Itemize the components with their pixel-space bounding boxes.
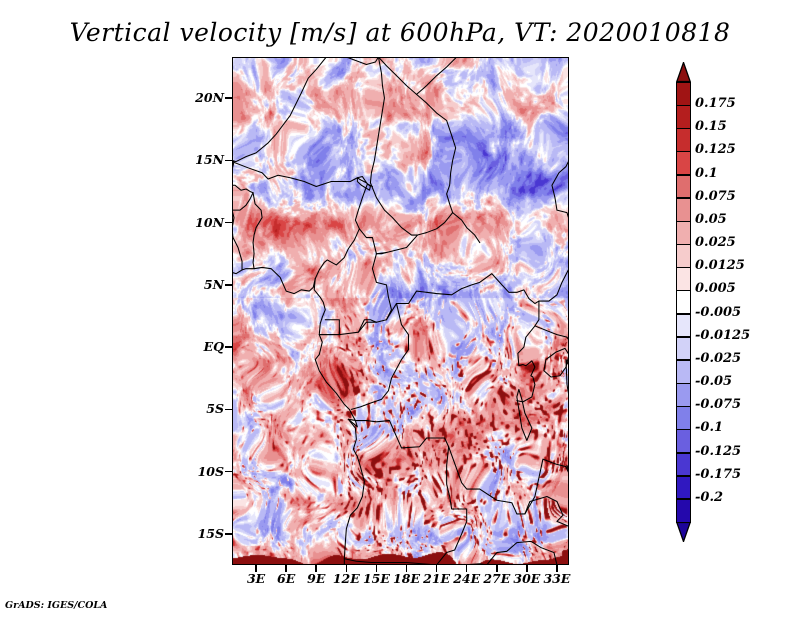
colorbar-band — [676, 151, 691, 175]
colorbar-over-arrow — [676, 62, 691, 82]
colorbar-band — [676, 198, 691, 222]
border-path — [319, 274, 539, 335]
y-axis-label: 5N — [170, 277, 224, 292]
border-path — [544, 348, 569, 377]
y-axis-tick — [225, 346, 232, 348]
border-path — [567, 465, 569, 526]
border-path — [348, 419, 563, 515]
grads-credit: GrADS: IGES/COLA — [5, 600, 107, 611]
colorbar-band — [676, 290, 691, 314]
colorbar-label: 0.005 — [695, 281, 736, 296]
x-axis-tick — [255, 565, 257, 572]
border-path — [351, 304, 408, 410]
colorbar-band — [676, 383, 691, 407]
x-axis-tick — [496, 565, 498, 572]
border-path — [525, 459, 569, 514]
y-axis-label: 10N — [170, 215, 224, 230]
y-axis-label: 20N — [170, 90, 224, 105]
x-axis-tick — [526, 565, 528, 572]
y-axis-label: EQ — [170, 339, 224, 354]
colorbar-label: -0.2 — [695, 490, 723, 505]
border-path — [232, 57, 326, 162]
colorbar-band — [676, 453, 691, 477]
colorbar-band — [676, 221, 691, 245]
colorbar-label: 0.1 — [695, 166, 718, 181]
y-axis-tick — [225, 533, 232, 535]
border-path — [232, 162, 372, 187]
border-path — [417, 57, 457, 94]
border-path — [358, 320, 376, 332]
x-axis-tick — [285, 565, 287, 572]
border-path — [370, 57, 384, 183]
y-axis-label: 10S — [170, 464, 224, 479]
border-path — [232, 193, 253, 210]
colorbar-label: -0.025 — [695, 351, 741, 366]
border-path — [539, 210, 569, 301]
x-axis-tick — [315, 565, 317, 572]
colorbar-band — [676, 337, 691, 361]
x-axis-tick — [376, 565, 378, 572]
colorbar-label: 0.0125 — [695, 258, 745, 273]
border-path — [325, 320, 339, 335]
colorbar-band — [676, 476, 691, 500]
x-axis-tick — [346, 565, 348, 572]
border-path — [344, 419, 364, 565]
colorbar-band — [676, 128, 691, 152]
colorbar-under-arrow — [676, 522, 691, 542]
colorbar-label: 0.175 — [695, 96, 736, 111]
map-panel — [232, 57, 569, 565]
border-path — [314, 279, 357, 427]
border-path — [462, 541, 557, 565]
colorbar-band — [676, 429, 691, 453]
colorbar-band — [676, 82, 691, 106]
colorbar-band — [676, 105, 691, 129]
y-axis-tick — [225, 160, 232, 162]
country-borders-overlay — [232, 57, 569, 565]
border-path — [378, 57, 479, 243]
x-axis-tick — [466, 565, 468, 572]
border-path — [344, 559, 436, 565]
colorbar-band — [676, 360, 691, 384]
x-axis-tick — [556, 565, 558, 572]
colorbar-band — [676, 499, 691, 523]
y-axis-tick — [225, 222, 232, 224]
colorbar-label: 0.125 — [695, 142, 736, 157]
colorbar-band — [676, 406, 691, 430]
colorbar-band — [676, 244, 691, 268]
border-path — [370, 183, 452, 235]
border-path — [517, 389, 532, 440]
page-title: Vertical velocity [m/s] at 600hPa, VT: 2… — [0, 18, 800, 47]
border-path — [326, 57, 378, 64]
border-path — [315, 184, 367, 279]
border-path — [242, 269, 254, 270]
y-axis-tick — [225, 284, 232, 286]
colorbar — [676, 62, 691, 542]
colorbar-label: 0.025 — [695, 235, 736, 250]
colorbar-label: -0.1 — [695, 420, 723, 435]
border-path — [557, 515, 569, 526]
x-axis-tick — [406, 565, 408, 572]
y-axis-tick — [225, 409, 232, 411]
colorbar-label: -0.175 — [695, 467, 741, 482]
border-path — [552, 160, 569, 210]
border-path — [359, 229, 386, 254]
y-axis-tick — [225, 471, 232, 473]
colorbar-band — [676, 267, 691, 291]
border-path — [232, 210, 242, 270]
colorbar-label: -0.075 — [695, 397, 741, 412]
border-path — [253, 193, 262, 269]
colorbar-label: -0.005 — [695, 305, 741, 320]
colorbar-label: 0.075 — [695, 189, 736, 204]
border-path — [535, 326, 569, 366]
border-path — [376, 235, 417, 254]
y-axis-label: 15N — [170, 152, 224, 167]
y-axis-label: 5S — [170, 401, 224, 416]
colorbar-band — [676, 314, 691, 338]
colorbar-label: 0.15 — [695, 119, 727, 134]
border-path — [232, 270, 242, 274]
border-path — [437, 447, 467, 565]
colorbar-label: 0.05 — [695, 212, 727, 227]
border-path — [372, 254, 391, 320]
y-axis-label: 15S — [170, 526, 224, 541]
border-path — [232, 185, 253, 192]
grads-plot-page: Vertical velocity [m/s] at 600hPa, VT: 2… — [0, 0, 800, 618]
x-axis-label: 33E — [532, 571, 582, 586]
border-path — [254, 267, 315, 293]
y-axis-tick — [225, 97, 232, 99]
colorbar-label: -0.0125 — [695, 328, 750, 343]
x-axis-tick — [436, 565, 438, 572]
colorbar-band — [676, 175, 691, 199]
border-path — [517, 301, 539, 402]
colorbar-label: -0.05 — [695, 374, 732, 389]
colorbar-label: -0.125 — [695, 444, 741, 459]
